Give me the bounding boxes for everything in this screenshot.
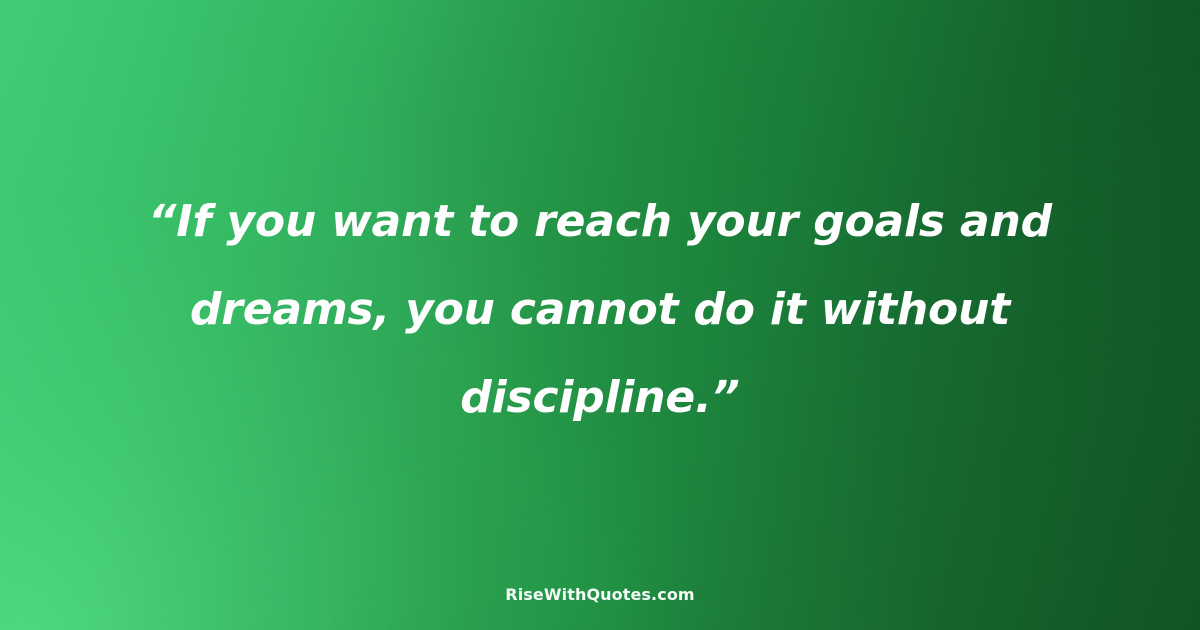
card-content: “If you want to reach your goals and dre… [0,0,1200,630]
quote-text: “If you want to reach your goals and dre… [148,196,1052,423]
quote-block: “If you want to reach your goals and dre… [0,178,1200,442]
footer: RiseWithQuotes.com [0,585,1200,604]
site-attribution: RiseWithQuotes.com [505,585,694,604]
quote-card: “If you want to reach your goals and dre… [0,0,1200,630]
